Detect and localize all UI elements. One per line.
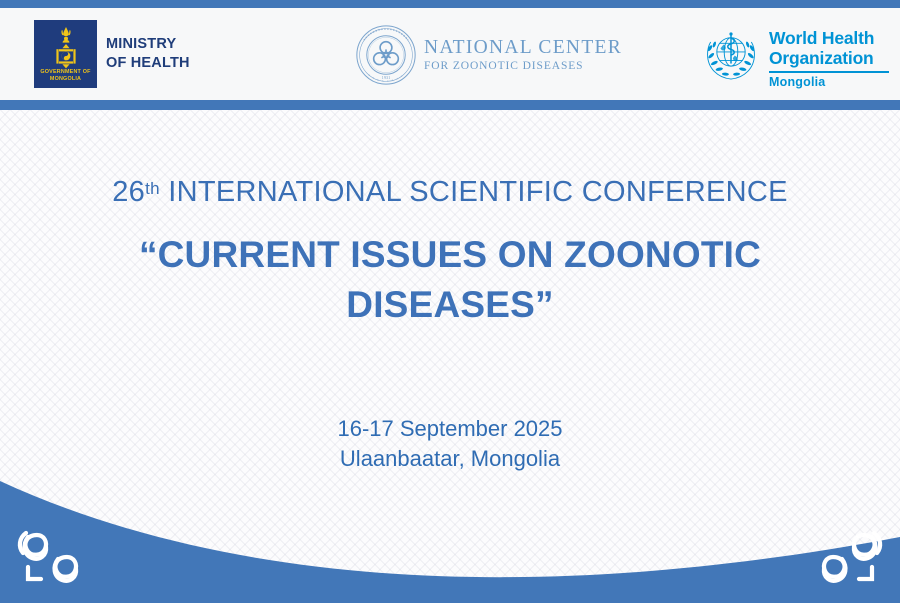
emblem-caption-line-1: GOVERNMENT OF bbox=[34, 69, 97, 76]
national-center-name-line-2: FOR ZOONOTIC DISEASES bbox=[424, 59, 622, 73]
who-name-line-2: Organization bbox=[769, 48, 889, 68]
national-center-logo: 1931 NATIONAL CENTER FOR ZOONOTIC DISEAS… bbox=[355, 24, 622, 86]
soyombo-icon bbox=[51, 26, 81, 70]
emblem-caption-line-2: MONGOLIA bbox=[34, 76, 97, 83]
conference-label: INTERNATIONAL SCIENTIFIC CONFERENCE bbox=[168, 176, 788, 208]
top-accent-bar bbox=[0, 0, 900, 8]
event-dates: 16-17 September 2025 bbox=[0, 414, 900, 444]
who-wordmark: World Health Organization Mongolia bbox=[769, 26, 889, 89]
ministry-name-line-2: OF HEALTH bbox=[106, 54, 190, 73]
who-emblem-icon bbox=[700, 26, 762, 84]
mongolian-knot-ornament-left bbox=[14, 523, 96, 585]
who-underline-rule bbox=[769, 71, 889, 73]
mongolia-government-emblem: GOVERNMENT OF MONGOLIA bbox=[34, 20, 97, 88]
who-logo: World Health Organization Mongolia bbox=[700, 26, 889, 89]
conference-ordinal-suffix: th bbox=[145, 179, 160, 198]
conference-theme-title: “CURRENT ISSUES ON ZOONOTIC DISEASES” bbox=[110, 230, 790, 330]
seal-year: 1931 bbox=[382, 75, 391, 80]
mongolian-knot-ornament-right bbox=[804, 523, 886, 585]
ministry-of-health-logo: GOVERNMENT OF MONGOLIA MINISTRY OF HEALT… bbox=[34, 20, 190, 88]
who-name-line-1: World Health bbox=[769, 28, 889, 48]
header-divider-bar bbox=[0, 100, 900, 110]
bottom-wave-decoration bbox=[0, 463, 900, 603]
who-country-label: Mongolia bbox=[769, 75, 889, 89]
conference-title-slide: GOVERNMENT OF MONGOLIA MINISTRY OF HEALT… bbox=[0, 0, 900, 603]
ministry-name-line-1: MINISTRY bbox=[106, 35, 190, 54]
conference-number: 26 bbox=[112, 176, 145, 208]
logo-row: GOVERNMENT OF MONGOLIA MINISTRY OF HEALT… bbox=[0, 8, 900, 100]
national-center-name-line-1: NATIONAL CENTER bbox=[424, 37, 622, 59]
emblem-caption: GOVERNMENT OF MONGOLIA bbox=[34, 69, 97, 83]
conference-edition-line: 26th INTERNATIONAL SCIENTIFIC CONFERENCE bbox=[0, 176, 900, 209]
biohazard-seal-icon: 1931 bbox=[355, 24, 417, 86]
ministry-of-health-name: MINISTRY OF HEALTH bbox=[106, 35, 190, 73]
national-center-name: NATIONAL CENTER FOR ZOONOTIC DISEASES bbox=[424, 37, 622, 73]
